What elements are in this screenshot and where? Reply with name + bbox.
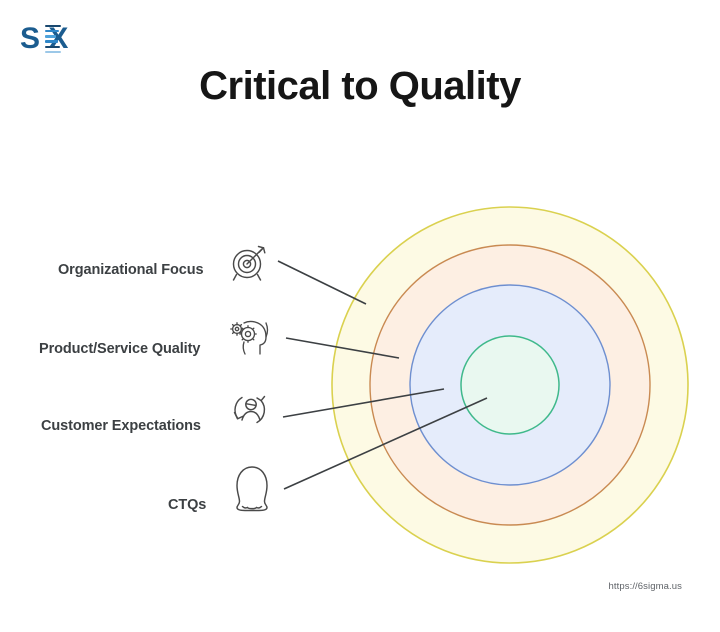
ring-ctqs xyxy=(461,336,559,434)
label-organizational-focus: Organizational Focus xyxy=(58,262,203,278)
ctq-ring-diagram xyxy=(0,0,720,632)
ctq-shape-icon xyxy=(229,464,275,510)
label-customer-expectations: Customer Expectations xyxy=(41,418,201,434)
slide-canvas: S X Critical to Quality Organizational F… xyxy=(0,0,720,632)
target-arrow-icon xyxy=(228,239,274,285)
label-ctqs: CTQs xyxy=(168,497,206,513)
label-product-service-quality: Product/Service Quality xyxy=(39,341,200,357)
customer-cycle-icon xyxy=(228,388,274,434)
head-gears-icon xyxy=(224,310,270,356)
footer-url: https://6sigma.us xyxy=(608,581,682,592)
leader-line-organizational-focus xyxy=(278,261,366,304)
